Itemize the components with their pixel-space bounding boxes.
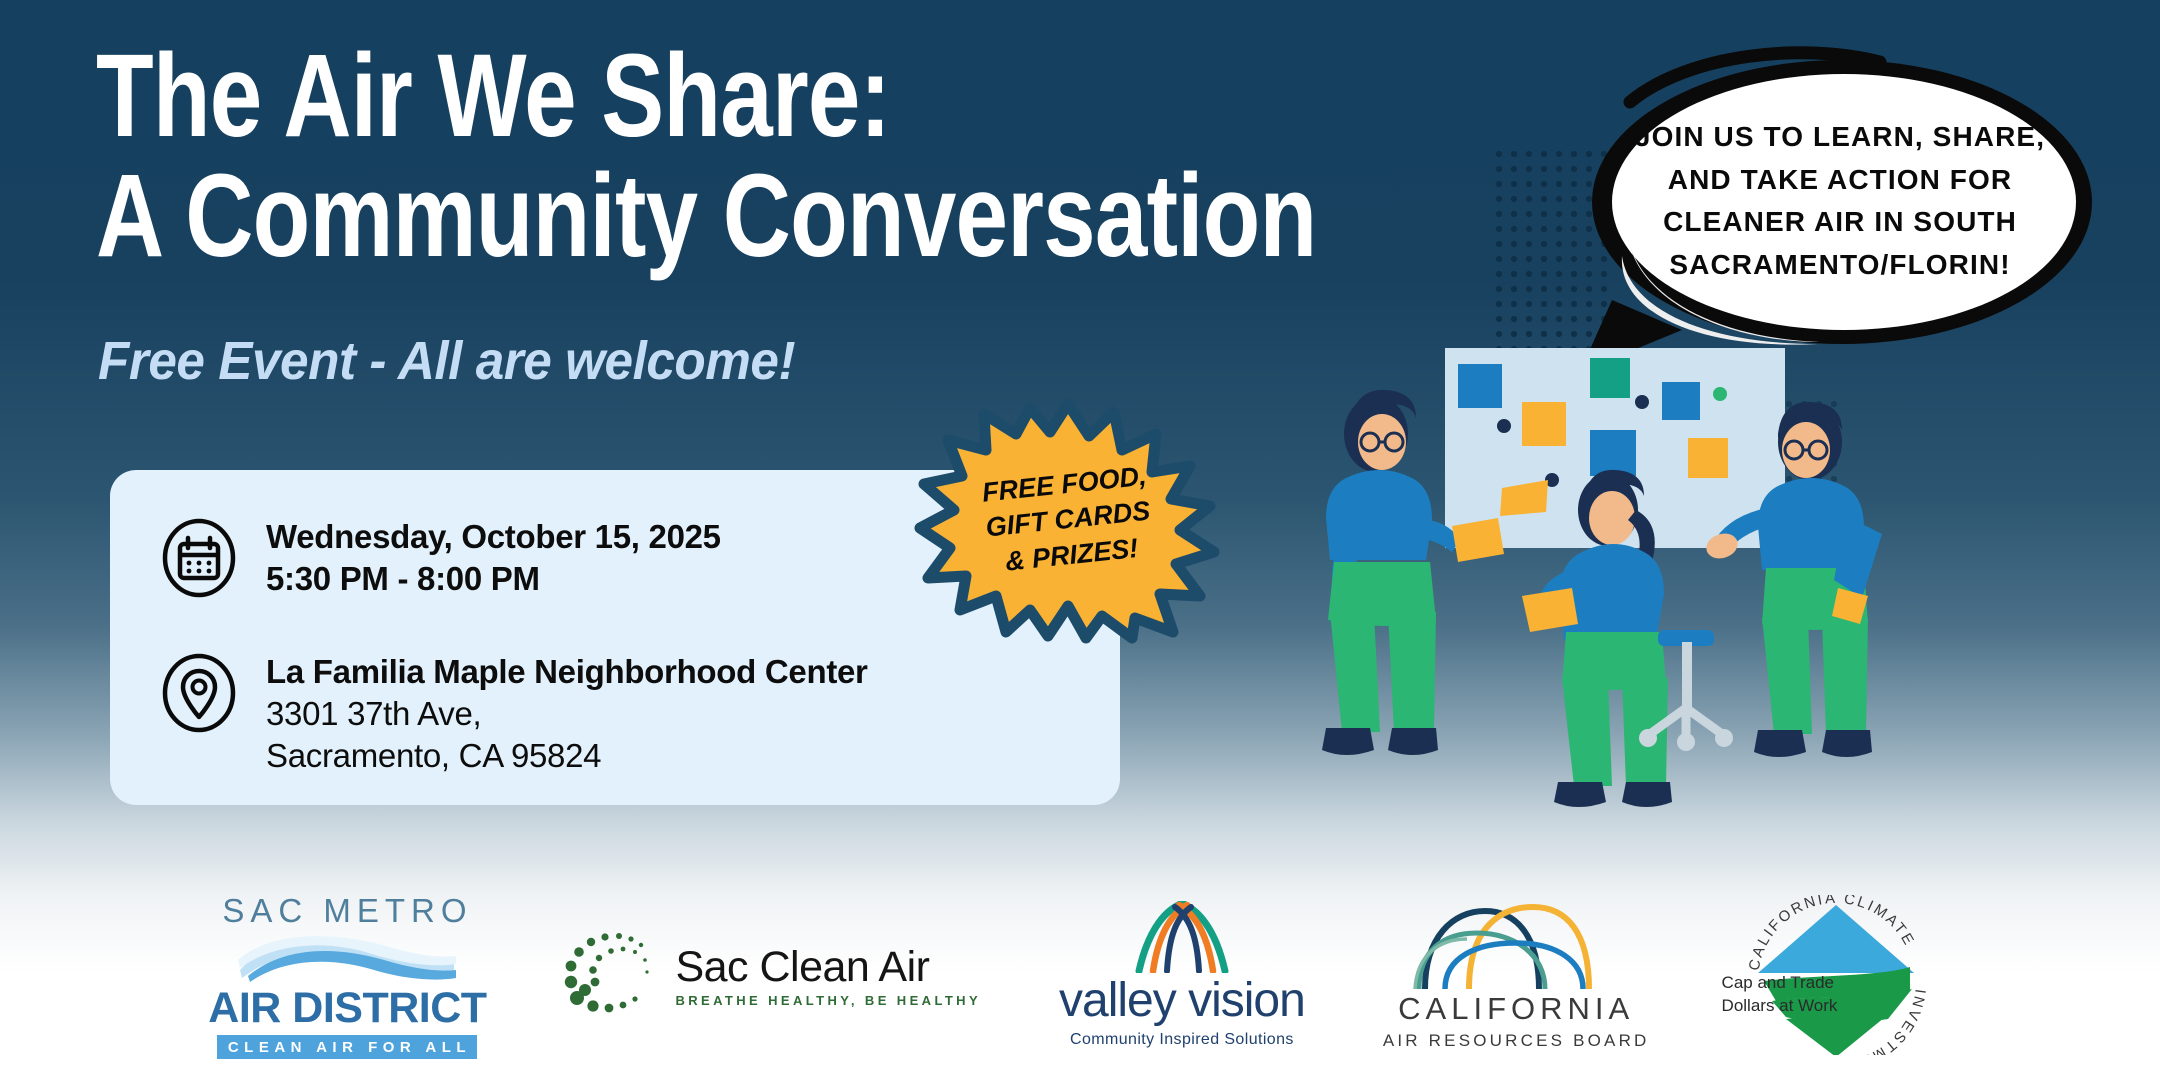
location-text: La Familia Maple Neighborhood Center 330… (266, 651, 868, 778)
logo-sac-metro-air-district: SAC METRO AIR DISTRICT CLEAN AIR FOR ALL (217, 892, 477, 1059)
cci-caption: Cap and Trade Dollars at Work (1722, 972, 1838, 1018)
venue-name: La Familia Maple Neighborhood Center (266, 651, 868, 693)
sac-clean-air-swirl-icon (555, 920, 665, 1030)
title-block: The Air We Share: A Community Conversati… (96, 36, 1386, 277)
address-line-1: 3301 37th Ave, (266, 693, 868, 735)
event-date: Wednesday, October 15, 2025 (266, 516, 721, 558)
speech-bubble: JOIN US TO LEARN, SHARE, AND TAKE ACTION… (1570, 42, 2110, 372)
subtitle: Free Event - All are welcome! (98, 330, 795, 392)
speech-bubble-text: JOIN US TO LEARN, SHARE, AND TAKE ACTION… (1630, 116, 2050, 286)
sac-metro-tagline: CLEAN AIR FOR ALL (217, 1035, 477, 1059)
sac-metro-top-label: SAC METRO (222, 892, 472, 930)
carb-tagline: AIR RESOURCES BOARD (1383, 1031, 1650, 1051)
valley-vision-main-label: valley vision (1059, 973, 1305, 1028)
logo-valley-vision: valley vision Community Inspired Solutio… (1059, 901, 1305, 1049)
event-banner: The Air We Share: A Community Conversati… (0, 0, 2160, 1080)
cci-caption-line-1: Cap and Trade (1722, 972, 1838, 995)
illustration-people-board (1290, 330, 2080, 850)
sac-clean-air-main-label: Sac Clean Air (675, 943, 981, 992)
address-line-2: Sacramento, CA 95824 (266, 735, 868, 777)
logo-sac-clean-air: Sac Clean Air BREATHE HEALTHY, BE HEALTH… (555, 920, 981, 1030)
event-time: 5:30 PM - 8:00 PM (266, 558, 721, 600)
carb-arcs-icon (1411, 899, 1621, 991)
sac-clean-air-tagline: BREATHE HEALTHY, BE HEALTHY (675, 993, 981, 1008)
logo-california-air-resources-board: CALIFORNIA AIR RESOURCES BOARD (1383, 899, 1650, 1051)
valley-vision-mark-icon (1107, 901, 1257, 973)
location-row: La Familia Maple Neighborhood Center 330… (162, 651, 1080, 778)
page-title-line-1: The Air We Share: (96, 36, 1128, 156)
valley-vision-tagline: Community Inspired Solutions (1070, 1031, 1294, 1049)
sac-metro-wave-icon (232, 930, 462, 982)
date-time-text: Wednesday, October 15, 2025 5:30 PM - 8:… (266, 516, 721, 600)
page-title-line-2: A Community Conversation (96, 156, 1128, 276)
partner-logos: SAC METRO AIR DISTRICT CLEAN AIR FOR ALL (0, 880, 2160, 1070)
carb-main-label: CALIFORNIA (1398, 991, 1634, 1027)
starburst-badge: FREE FOOD, GIFT CARDS & PRIZES! (918, 400, 1218, 640)
cci-caption-line-2: Dollars at Work (1722, 995, 1838, 1018)
starburst-shape (918, 400, 1218, 640)
logo-california-climate-investments: CALIFORNIA CLIMATE INVESTMENTS Cap and T… (1728, 900, 1943, 1050)
map-pin-icon (162, 653, 236, 738)
community-illustration (1290, 330, 2080, 850)
sac-metro-main-label: AIR DISTRICT (208, 984, 486, 1033)
calendar-icon (162, 518, 236, 603)
